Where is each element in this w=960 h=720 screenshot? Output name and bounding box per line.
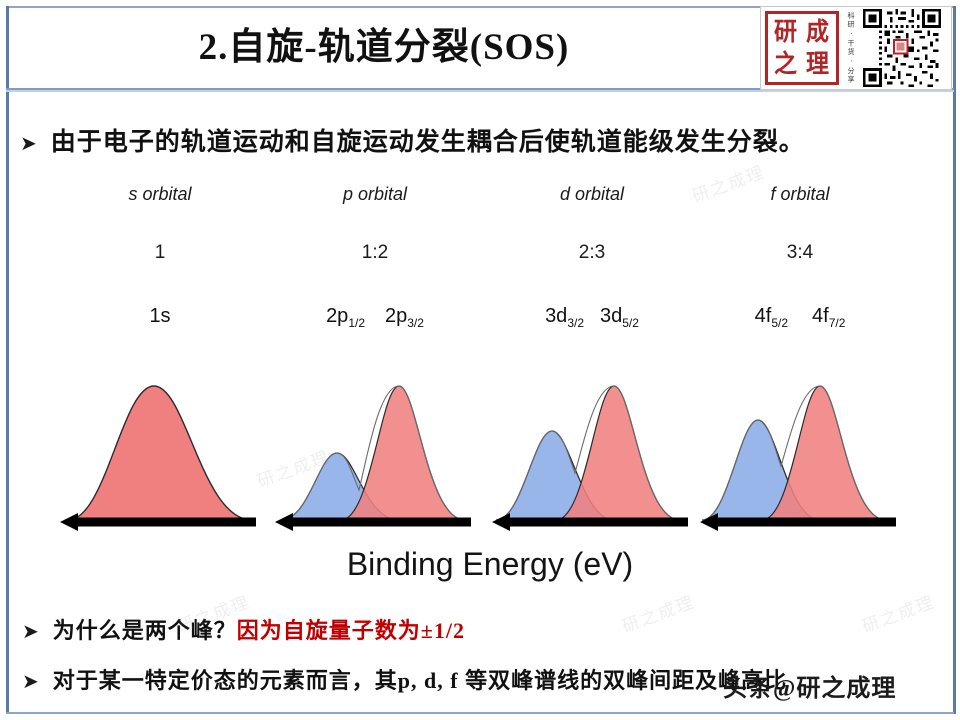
axis-arrow-left-icon <box>492 513 510 531</box>
peak-label-1s: 1s <box>149 305 170 330</box>
peak-area-4f72 <box>762 386 886 520</box>
orbital-label-d: d orbital <box>492 184 692 205</box>
peak-labels-f: 4f5/2 4f7/2 <box>700 305 900 330</box>
x-axis-label: Binding Energy (eV) <box>260 546 720 583</box>
page-title: 2.自旋-轨道分裂(SOS) <box>9 16 759 70</box>
seal-char-2: 成 <box>806 20 829 45</box>
spectrum-plot-s <box>60 350 260 540</box>
intensity-ratio-f: 3:4 <box>700 242 900 264</box>
watermark-overlay: 头条@研之成理 <box>723 668 896 703</box>
axis-arrow-left-icon <box>700 513 718 531</box>
bullet-item-1: ➤ 由于电子的轨道运动和自旋运动发生耦合后使轨道能级发生分裂。 <box>20 122 805 158</box>
spectrum-plot-p <box>275 350 475 540</box>
orbital-label-s: s orbital <box>60 184 260 205</box>
orbital-label-p: p orbital <box>275 184 475 205</box>
seal-char-1: 研 <box>774 20 797 45</box>
slide-canvas: 2.自旋-轨道分裂(SOS) 研 成 之 理 科研 · 干货 · 分享 <box>0 0 960 720</box>
bullet-arrow-icon: ➤ <box>22 669 39 694</box>
spectrum-plot-f <box>700 350 900 540</box>
bullet-1-text: 由于电子的轨道运动和自旋运动发生耦合后使轨道能级发生分裂。 <box>51 122 805 158</box>
spectrum-column-p: p orbital 1:2 2p1/2 2p3/2 <box>275 180 475 540</box>
qr-code-icon[interactable] <box>863 9 941 87</box>
watermark-faint-5: 研之成理 <box>858 588 938 637</box>
slide-border-right <box>953 6 956 714</box>
intensity-ratio-p: 1:2 <box>275 242 475 264</box>
bullet-2-answer: 因为自旋量子数为±1/2 <box>237 613 465 645</box>
peak-labels-d: 3d3/2 3d5/2 <box>492 305 692 330</box>
spectrum-column-f: f orbital 3:4 4f5/2 4f7/2 <box>700 180 900 540</box>
spectra-figure: s orbital 1 1s p orbital 1:2 2p1/2 <box>60 180 920 595</box>
axis-arrow-left-icon <box>60 513 78 531</box>
bullet-3-text: 对于某一特定价态的元素而言，其p, d, f 等双峰谱线的双峰间距及峰高比 <box>53 663 787 695</box>
brand-badge: 研 成 之 理 科研 · 干货 · 分享 <box>760 6 952 90</box>
peak-area-2p32 <box>341 386 465 520</box>
bullet-arrow-icon: ➤ <box>20 131 37 156</box>
spectrum-plot-d <box>492 350 692 540</box>
peak-label-3d32: 3d3/2 <box>545 305 584 330</box>
bullet-item-3: ➤ 对于某一特定价态的元素而言，其p, d, f 等双峰谱线的双峰间距及峰高比 <box>22 663 787 695</box>
seal-char-4: 理 <box>806 52 829 77</box>
orbital-label-f: f orbital <box>700 184 900 205</box>
spectrum-column-d: d orbital 2:3 3d3/2 3d5/2 <box>492 180 692 540</box>
peak-area-3d52 <box>556 386 680 520</box>
peak-label-3d52: 3d5/2 <box>600 305 639 330</box>
peak-label-2p32: 2p3/2 <box>385 305 424 330</box>
peak-labels-s: 1s <box>60 305 260 330</box>
slide-border-left <box>6 6 9 714</box>
bullet-arrow-icon: ➤ <box>22 619 39 644</box>
intensity-ratio-s: 1 <box>60 242 260 264</box>
seal-char-3: 之 <box>774 52 797 77</box>
peak-labels-p: 2p1/2 2p3/2 <box>275 305 475 330</box>
seal-tagline: 科研 · 干货 · 分享 <box>843 11 859 85</box>
peak-label-4f52: 4f5/2 <box>755 305 788 330</box>
watermark-faint-2: 研之成理 <box>618 588 698 637</box>
peak-label-4f72: 4f7/2 <box>812 305 845 330</box>
seal-stamp: 研 成 之 理 <box>765 11 839 85</box>
slide-border-bottom <box>6 712 954 714</box>
bullet-item-2: ➤ 为什么是两个峰？ 因为自旋量子数为±1/2 <box>22 613 465 645</box>
peak-label-2p12: 2p1/2 <box>326 305 365 330</box>
axis-arrow-left-icon <box>275 513 293 531</box>
bullet-2-question: 为什么是两个峰？ <box>53 613 237 645</box>
intensity-ratio-d: 2:3 <box>492 242 692 264</box>
peak-area-1s <box>68 386 252 520</box>
spectrum-column-s: s orbital 1 1s <box>60 180 260 540</box>
